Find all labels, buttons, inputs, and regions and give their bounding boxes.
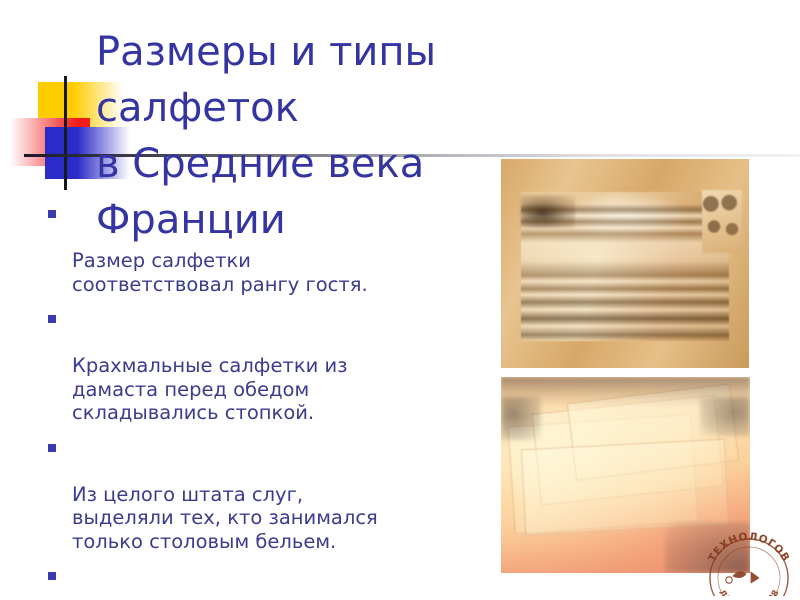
bullet-marker-icon (48, 572, 56, 580)
bullet-marker-icon (48, 210, 56, 218)
list-item-text: Крахмальные салфетки из дамаста перед об… (72, 354, 348, 424)
cloth-shadow-right (700, 397, 750, 436)
list-item: Крахмальные салфетки из дамаста перед об… (40, 307, 492, 425)
list-item: Из целого штата слуг, выделяли тех, кто … (40, 436, 492, 554)
bullet-list: Размер салфетки соответствовал рангу гос… (40, 202, 492, 600)
list-item-text: Размер салфетки соответствовал рангу гос… (72, 249, 368, 296)
linen-cloth-photo (501, 377, 750, 573)
svg-text:ЛАКОВО 2008: ЛАКОВО 2008 (716, 588, 781, 596)
cloth-sheet (521, 438, 729, 535)
list-item: Обеденная салфетка из «двустороннего кам… (40, 564, 492, 600)
bullet-marker-icon (48, 444, 56, 452)
crosshair-vertical-line (64, 76, 67, 190)
stamp-bottom-arc-text: ЛАКОВО 2008 (716, 588, 781, 596)
list-item: Размер салфетки соответствовал рангу гос… (40, 202, 492, 296)
slide-canvas: Размеры и типы салфеток в Средние века Ф… (0, 0, 800, 600)
cloth-shadow-bottom-right (665, 522, 750, 573)
stamp-emblem-ring (726, 577, 732, 583)
napkin-stack-photo-lace (702, 190, 742, 253)
cloth-shadow-left (501, 397, 541, 440)
list-item-text: Из целого штата слуг, выделяли тех, кто … (72, 483, 378, 553)
stamp-emblem-right (751, 572, 759, 583)
bullet-marker-icon (48, 315, 56, 323)
